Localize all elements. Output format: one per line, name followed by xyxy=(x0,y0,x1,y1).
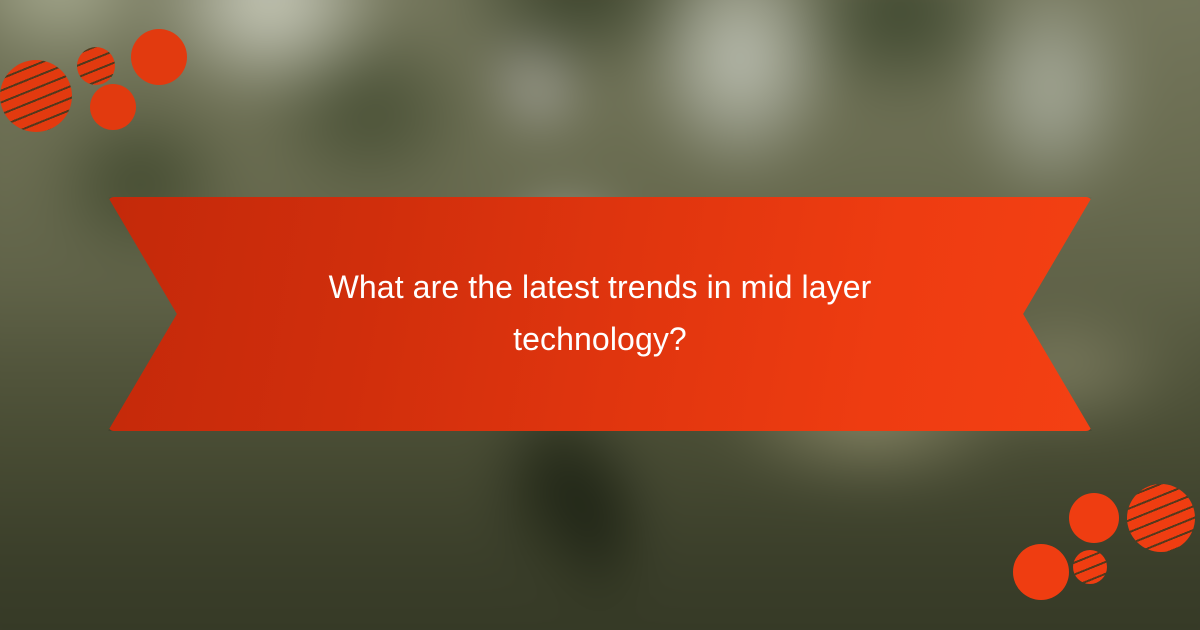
circle-solid-large xyxy=(131,29,187,85)
circle-striped-large xyxy=(0,60,72,132)
circle-striped-large xyxy=(1127,484,1195,552)
circle-solid-medium xyxy=(90,84,136,130)
circle-solid-large xyxy=(1013,544,1069,600)
question-ribbon-banner: What are the latest trends in mid layer … xyxy=(108,197,1092,431)
circle-striped-small xyxy=(77,47,115,85)
circle-striped-small xyxy=(1073,550,1107,584)
poster-canvas: What are the latest trends in mid layer … xyxy=(0,0,1200,630)
circle-solid-medium xyxy=(1069,493,1119,543)
ribbon-shape xyxy=(108,197,1092,431)
